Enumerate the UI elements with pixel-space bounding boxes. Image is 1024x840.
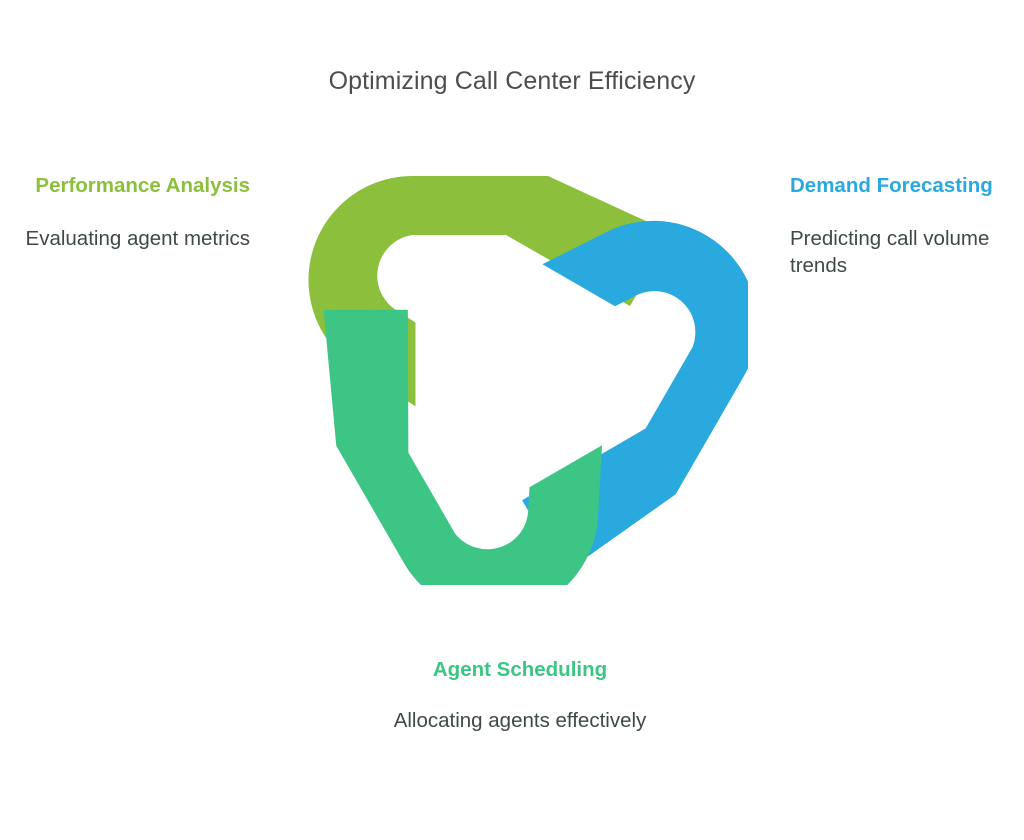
logo-arm-group <box>292 172 748 585</box>
node-agent-scheduling: Agent Scheduling Allocating agents effec… <box>282 656 758 734</box>
node-description-demand-forecasting: Predicting call volume trends <box>790 225 1024 280</box>
node-title-demand-forecasting: Demand Forecasting <box>790 172 1024 199</box>
node-performance-analysis: Performance Analysis Evaluating agent me… <box>10 172 250 252</box>
node-description-performance-analysis: Evaluating agent metrics <box>10 225 250 252</box>
diagram-canvas: Optimizing Call Center Efficiency Perfor… <box>0 0 1024 840</box>
node-description-agent-scheduling: Allocating agents effectively <box>282 707 758 734</box>
node-demand-forecasting: Demand Forecasting Predicting call volum… <box>790 172 1024 280</box>
node-title-performance-analysis: Performance Analysis <box>10 172 250 199</box>
page-title: Optimizing Call Center Efficiency <box>0 66 1024 96</box>
interlocking-trefoil-logo <box>292 160 748 585</box>
node-title-agent-scheduling: Agent Scheduling <box>282 656 758 683</box>
